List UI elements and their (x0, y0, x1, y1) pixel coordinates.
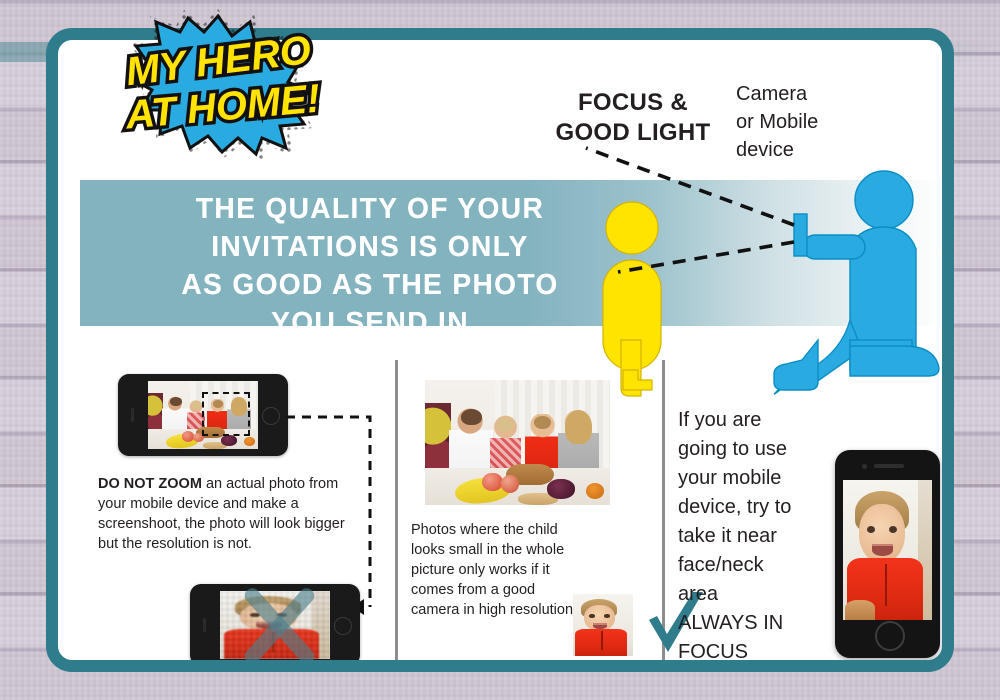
camera-or-mobile-device-label: Camera or Mobile device (736, 80, 886, 164)
phone-home-button (875, 621, 905, 651)
phone-speaker-icon (203, 618, 206, 632)
camera-label-line-2: or Mobile (736, 108, 886, 136)
caption-line-9: FOCUS (678, 638, 838, 667)
headline-line-2: INVITATIONS IS ONLY (118, 228, 622, 266)
phone-home-button (334, 617, 352, 635)
headline-banner: THE QUALITY OF YOUR INVITATIONS IS ONLY … (80, 180, 942, 326)
family-photo-image (425, 380, 610, 505)
my-hero-at-home-logo: MY HERO MY HERO AT HOME! AT HOME! (112, 8, 324, 160)
column-divider-1 (395, 360, 398, 664)
caption-line-1: If you are (678, 406, 838, 435)
headline-text: THE QUALITY OF YOUR INVITATIONS IS ONLY … (118, 190, 622, 342)
x-reject-icon (226, 578, 332, 672)
caption-line-4: device, try to (678, 493, 838, 522)
camera-label-line-3: device (736, 136, 886, 164)
caption-line-5: take it near (678, 522, 838, 551)
headline-line-1: THE QUALITY OF YOUR (118, 190, 622, 228)
phone-speaker-icon (874, 464, 904, 468)
caption-line-7: area (678, 580, 838, 609)
caption-line-6: face/neck (678, 551, 838, 580)
boy-thumbnail (573, 594, 633, 656)
phone-portrait-closeup (835, 450, 940, 658)
do-not-zoom-caption: DO NOT ZOOM an actual photo from your mo… (98, 474, 348, 554)
boy-photo-closeup (843, 480, 932, 620)
do-not-zoom-emphasis: DO NOT ZOOM (98, 476, 202, 492)
focus-label-line-1: FOCUS & (518, 88, 748, 118)
whole-picture-caption: Photos where the child looks small in th… (411, 520, 586, 620)
phone-screen (843, 480, 932, 620)
headline-line-4: YOU SEND IN (118, 304, 622, 342)
phone-landscape-zoomed-rejected (190, 584, 360, 666)
column-whole-picture: Photos where the child looks small in th… (403, 362, 655, 662)
caption-line-3: your mobile (678, 464, 838, 493)
focus-and-good-light-label: FOCUS & GOOD LIGHT (518, 88, 748, 148)
mobile-device-caption: If you are going to use your mobile devi… (678, 406, 838, 667)
caption-line-8: ALWAYS IN (678, 609, 838, 638)
phone-camera-icon (862, 464, 867, 469)
focus-label-line-2: GOOD LIGHT (518, 118, 748, 148)
family-photo-frame (425, 380, 610, 505)
caption-line-2: going to use (678, 435, 838, 464)
camera-label-line-1: Camera (736, 80, 886, 108)
headline-line-3: AS GOOD AS THE PHOTO (118, 266, 622, 304)
column-do-not-zoom: DO NOT ZOOM an actual photo from your mo… (80, 362, 390, 662)
column-mobile-device: If you are going to use your mobile devi… (670, 362, 942, 662)
